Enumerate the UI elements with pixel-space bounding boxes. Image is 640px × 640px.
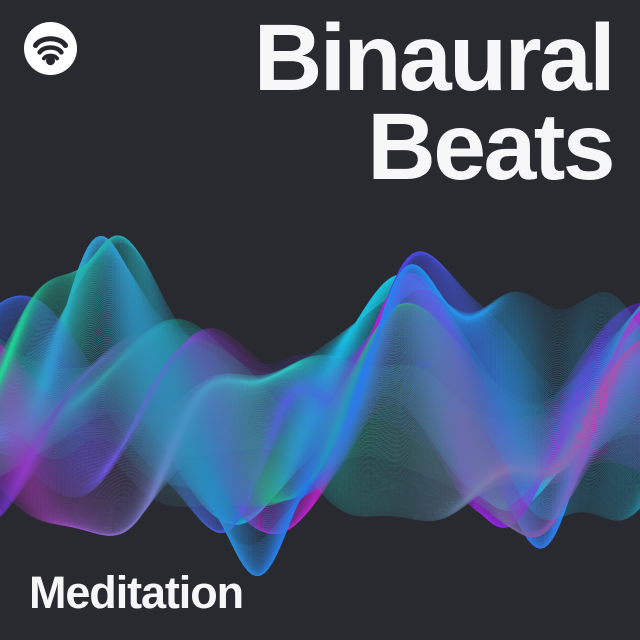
title-line-2: Beats [254, 103, 613, 192]
page-title: Binaural Beats [254, 14, 613, 193]
album-cover: Binaural Beats Meditation [0, 0, 640, 640]
subtitle-label: Meditation [29, 567, 243, 619]
title-line-1: Binaural [254, 14, 613, 103]
